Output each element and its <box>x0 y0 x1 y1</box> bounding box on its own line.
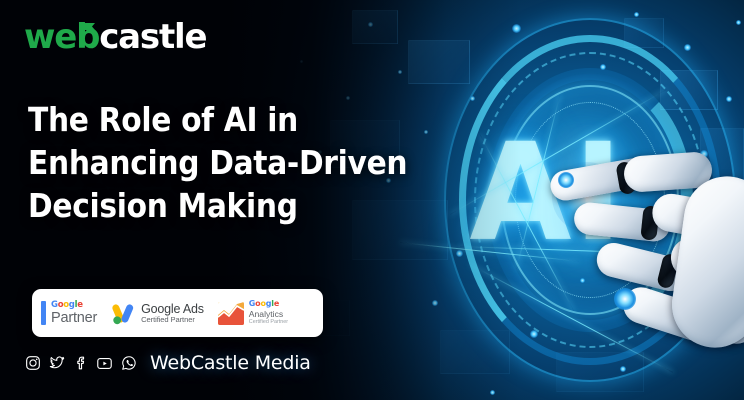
whatsapp-icon[interactable] <box>120 355 137 372</box>
google-analytics-subtitle: Certified Partner <box>249 320 288 326</box>
google-partner-title: Partner <box>51 311 97 326</box>
google-partner-bar-icon <box>41 301 46 325</box>
headline-line-1: The Role of AI in <box>28 99 458 142</box>
certification-badge-bar: Google Partner Google Ads Certified Part… <box>32 289 323 337</box>
google-ads-subtitle: Certified Partner <box>141 316 204 325</box>
google-analytics-icon <box>218 302 244 325</box>
footer-brand-name: WebCastle Media <box>150 352 311 374</box>
google-ads-icon <box>111 301 136 326</box>
page-title: The Role of AI in Enhancing Data-Driven … <box>28 99 458 228</box>
youtube-icon[interactable] <box>96 355 113 372</box>
headline-line-3: Decision Making <box>28 185 458 228</box>
google-ads-title: Google Ads <box>141 302 204 316</box>
logo-castle-label: castle <box>99 20 206 54</box>
flag-icon <box>83 7 96 19</box>
webcastle-logo[interactable]: web castle <box>24 20 206 54</box>
google-wordmark: Google <box>51 301 97 310</box>
logo-web-text: web <box>24 20 99 54</box>
headline-line-2: Enhancing Data-Driven <box>28 142 458 185</box>
instagram-icon[interactable] <box>24 355 41 372</box>
twitter-icon[interactable] <box>48 355 65 372</box>
badge-google-ads: Google Ads Certified Partner <box>111 301 204 326</box>
badge-google-partner: Google Partner <box>41 301 97 325</box>
google-analytics-wordmark: Google <box>249 300 288 309</box>
google-analytics-title: Analytics <box>249 310 288 319</box>
banner-content: web castle The Role of AI in Enhancing D… <box>0 0 744 400</box>
social-links-row: WebCastle Media <box>24 352 311 374</box>
facebook-icon[interactable] <box>72 355 89 372</box>
promo-banner: A I <box>0 0 744 400</box>
badge-google-analytics: Google Analytics Certified Partner <box>218 300 288 326</box>
